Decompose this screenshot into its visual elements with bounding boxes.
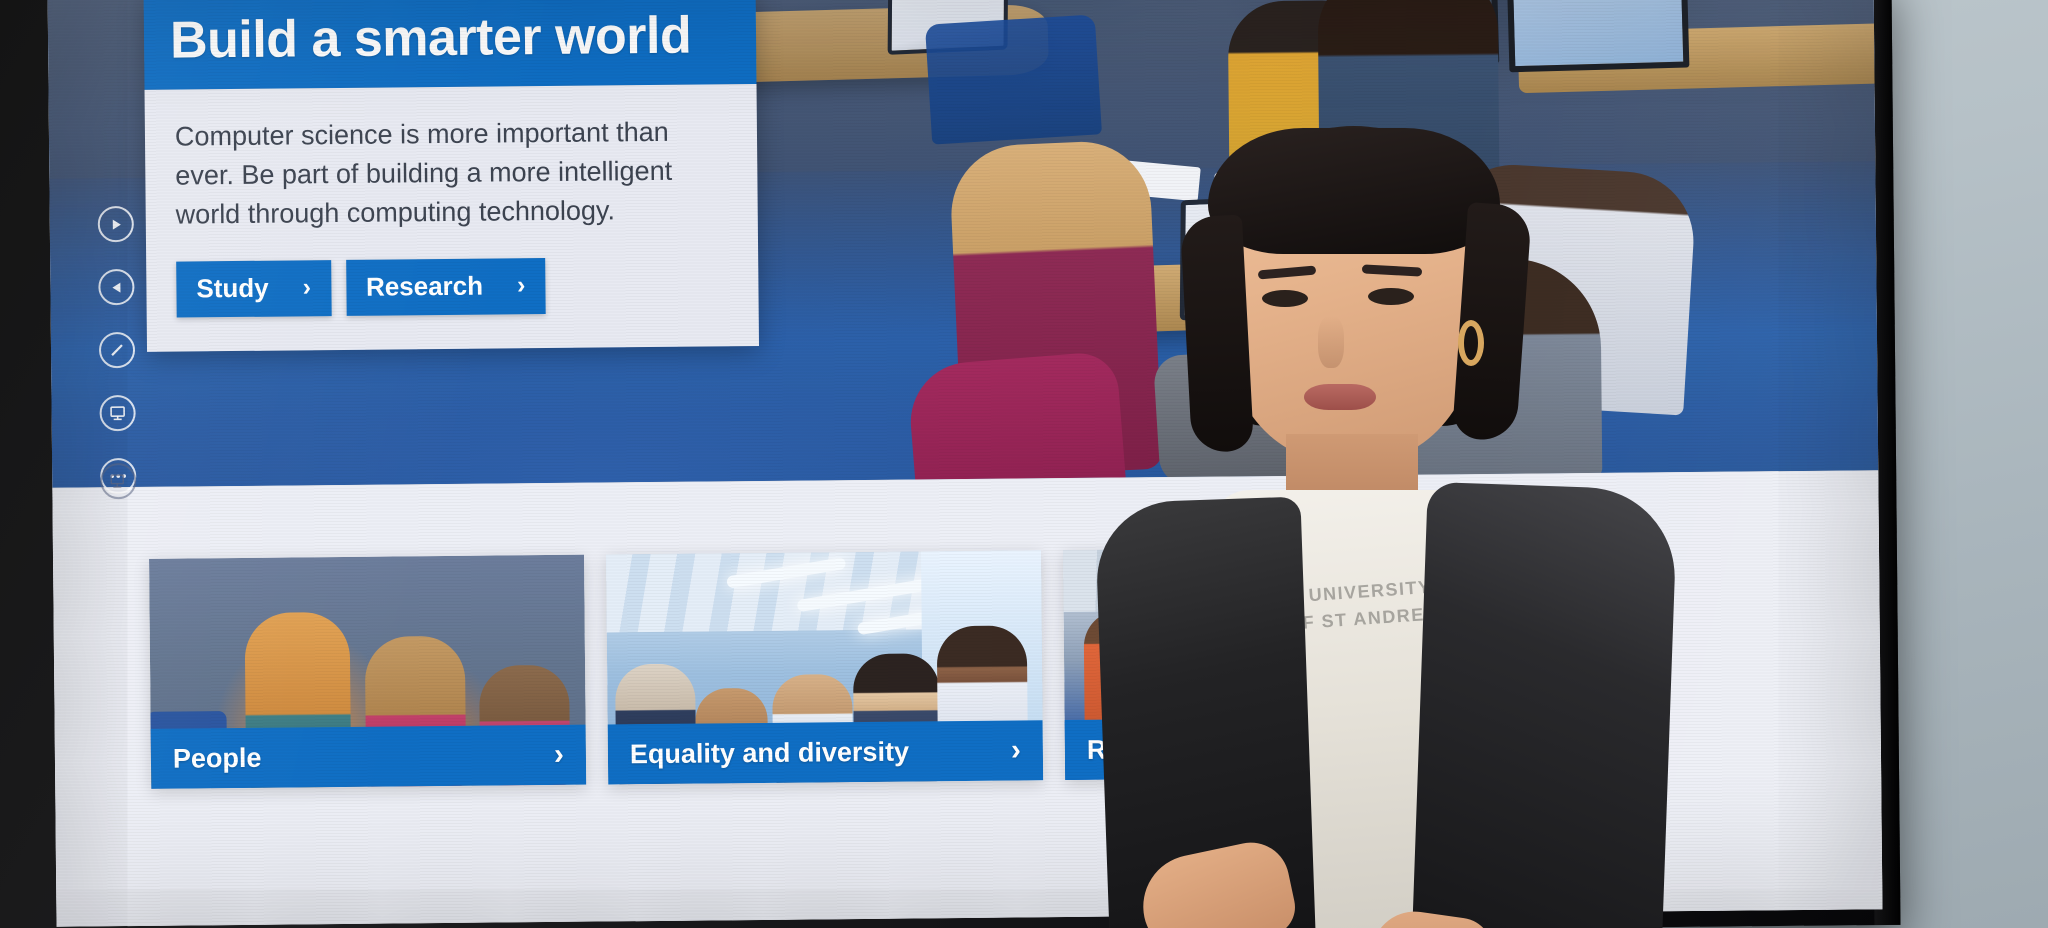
hero-monitor-1	[1506, 0, 1689, 72]
hero-card: Build a smarter world Computer science i…	[144, 0, 759, 351]
card-equality-title: Equality and diversity	[630, 736, 909, 770]
presenter-nose	[1318, 316, 1344, 368]
hero-description: Computer science is more important than …	[175, 112, 728, 235]
presenter-earring	[1458, 320, 1484, 366]
no-entry-circle-icon[interactable]	[99, 332, 135, 368]
card-equality-bar[interactable]: Equality and diversity ›	[608, 720, 1044, 784]
card-people[interactable]: People ›	[149, 555, 586, 789]
card-equality-and-diversity[interactable]: Equality and diversity ›	[606, 550, 1043, 784]
chevron-right-icon: ›	[517, 271, 526, 300]
previous-circle-icon[interactable]	[98, 269, 134, 305]
hero-card-body: Computer science is more important than …	[145, 84, 759, 351]
presenter-mouth	[1304, 384, 1376, 410]
presenter-jacket-right	[1412, 482, 1678, 928]
card-equality-image: Equality and diversity ›	[606, 550, 1043, 784]
hero-card-header: Build a smarter world	[144, 0, 757, 90]
presenter-fringe	[1208, 128, 1500, 254]
presentation-screen-icon[interactable]	[100, 463, 136, 499]
presenter-eye-right	[1368, 288, 1414, 305]
play-circle-icon[interactable]	[98, 206, 134, 242]
presenter: UNIVERSITY OF ST ANDREWS	[1090, 108, 1690, 928]
chevron-right-icon: ›	[554, 738, 564, 772]
hero-title: Build a smarter world	[170, 8, 730, 67]
card-people-bar[interactable]: People ›	[151, 725, 587, 789]
study-button[interactable]: Study ›	[176, 260, 331, 317]
screen-share-rail	[100, 463, 136, 499]
chevron-right-icon: ›	[303, 273, 312, 302]
study-button-label: Study	[196, 272, 269, 304]
research-button-label: Research	[366, 270, 483, 302]
present-screen-circle-icon[interactable]	[99, 395, 135, 431]
hero-button-group: Study › Research ›	[176, 256, 729, 317]
chevron-right-icon: ›	[1011, 733, 1021, 767]
card-people-title: People	[173, 742, 262, 774]
presentation-control-rail	[98, 206, 137, 494]
presenter-eye-left	[1262, 290, 1308, 307]
research-button[interactable]: Research ›	[346, 258, 546, 316]
photo-scene: Build a smarter world Computer science i…	[0, 0, 2048, 928]
hero-chair-1	[925, 14, 1102, 144]
card-people-image: People ›	[149, 555, 586, 789]
presenter-hair-left	[1180, 215, 1254, 454]
